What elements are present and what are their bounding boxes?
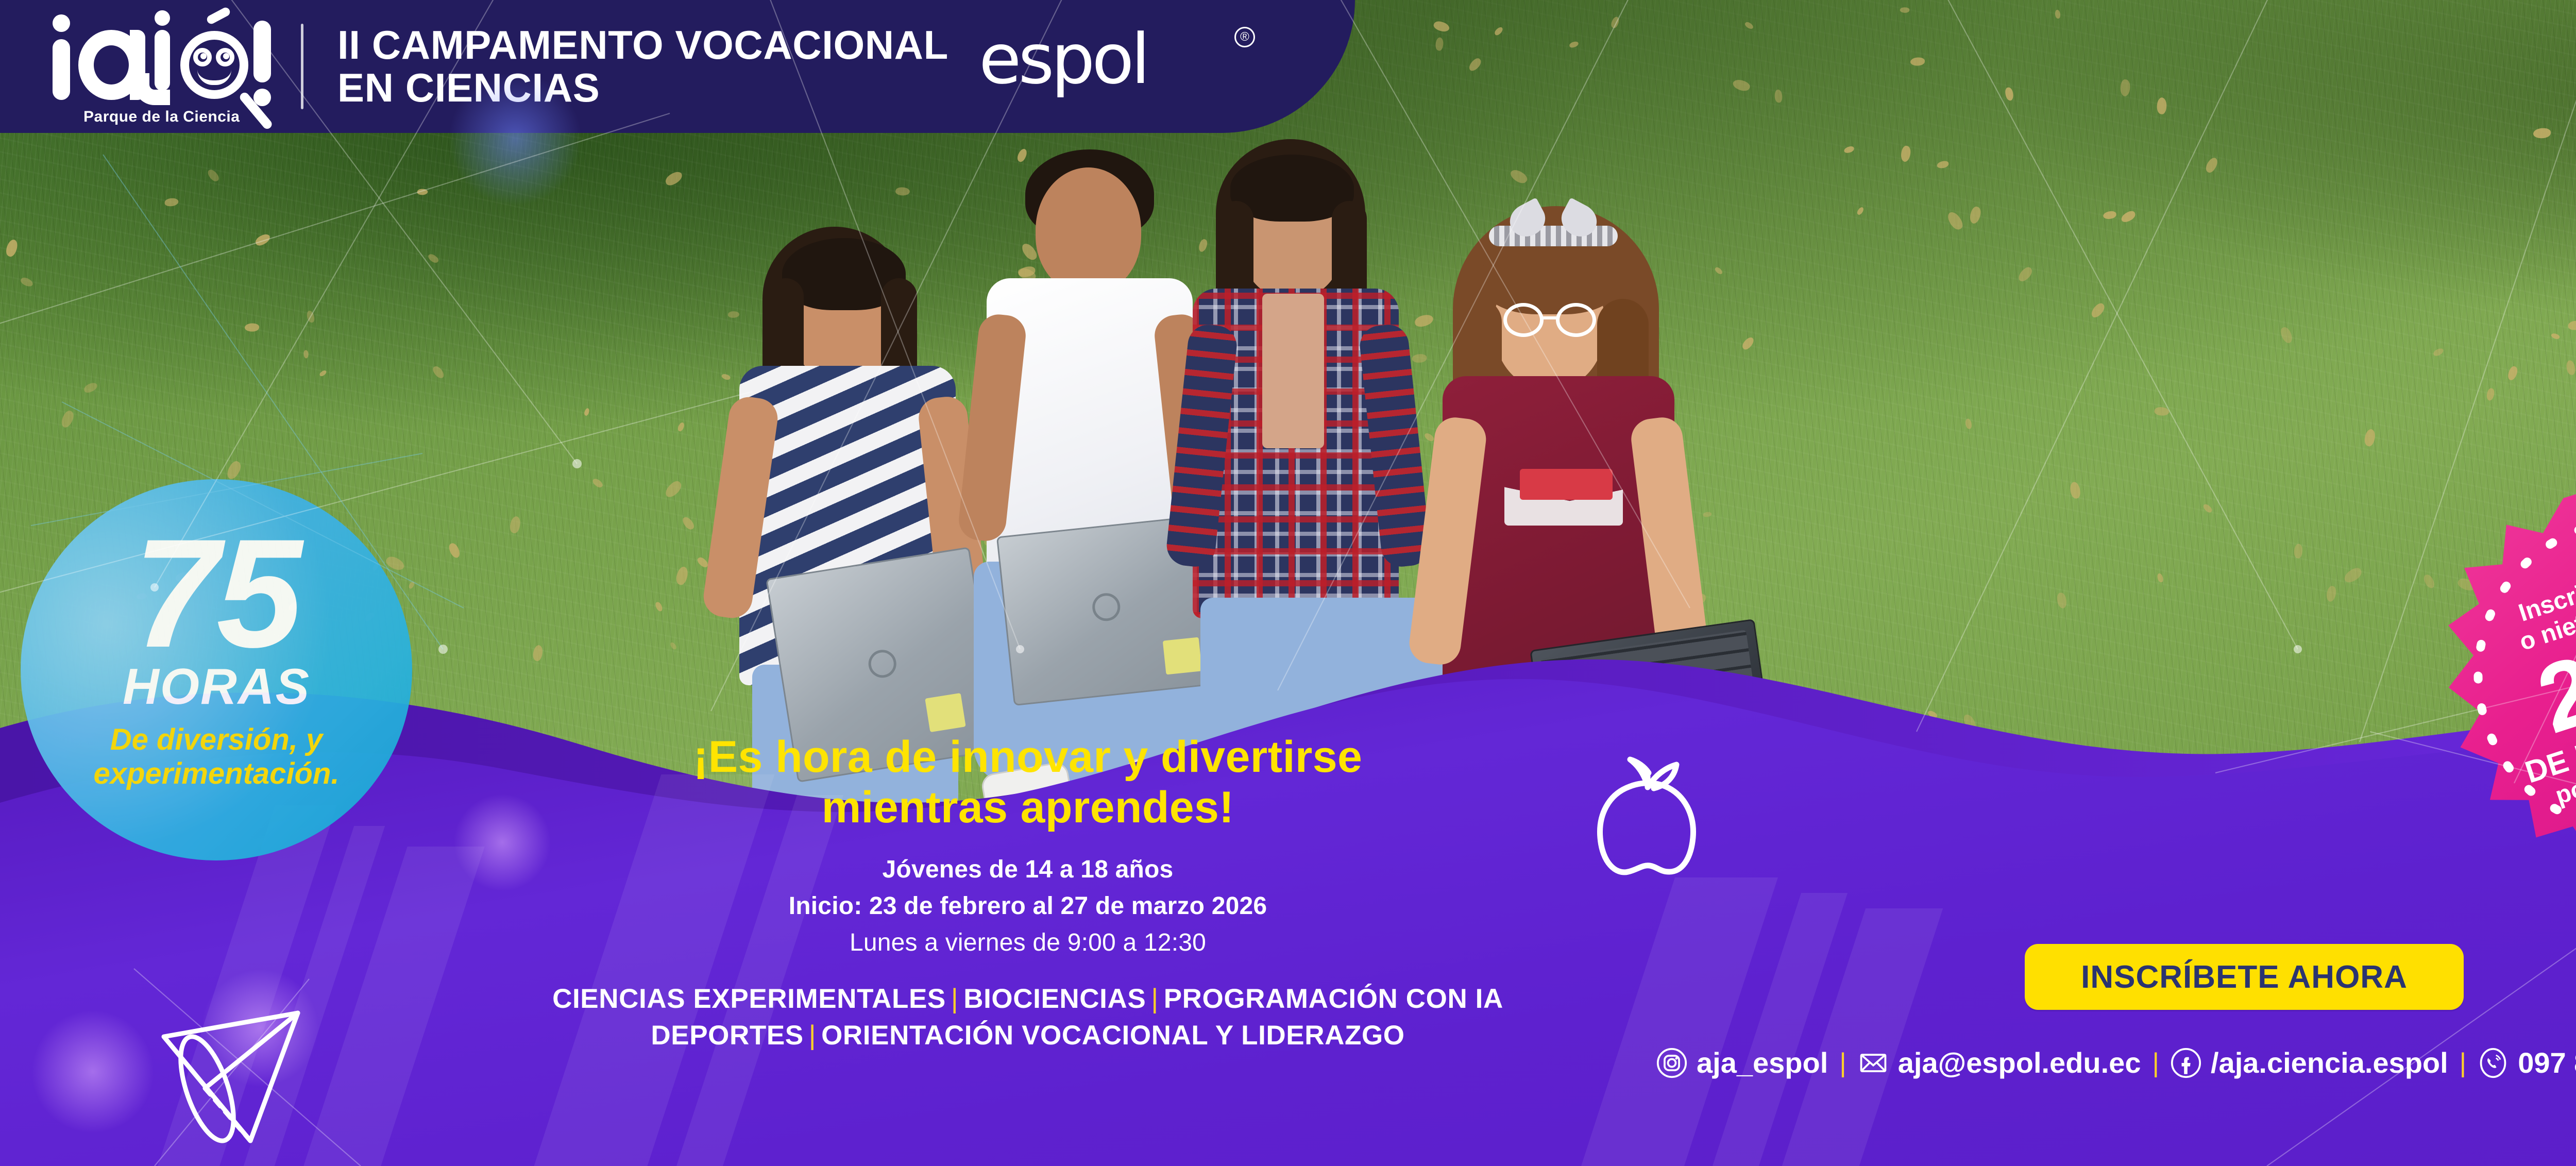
course-list: CIENCIAS EXPERIMENTALES|BIOCIENCIAS|PROG… [474, 981, 1582, 1054]
contact-value: aja_espol [1697, 1046, 1828, 1079]
contact-facebook[interactable]: /aja.ciencia.espol [2171, 1046, 2448, 1079]
logo-letter-j-dot [155, 10, 170, 26]
page-title: II CAMPAMENTO VOCACIONAL EN CIENCIAS [337, 24, 948, 110]
aja-logo[interactable]: Parque de la Ciencia [52, 7, 268, 126]
magnifier-icon [180, 31, 248, 99]
event-detail-line: Jóvenes de 14 a 18 años [474, 851, 1582, 888]
course-separator: | [804, 1020, 821, 1051]
hours-subtitle: De diversión, y experimentación. [93, 723, 339, 791]
logo-inverted-exclamation [53, 39, 70, 100]
event-detail-line: Lunes a viernes de 9:00 a 12:30 [474, 924, 1582, 961]
logo-inverted-exclamation-dot [53, 14, 70, 32]
logo-letter-j-hook [134, 73, 170, 105]
leaf [2055, 10, 2060, 19]
hours-number: 75 [133, 528, 299, 658]
headline: ¡Es hora de innovar y divertirse mientra… [474, 732, 1582, 833]
logo-accent-mark [206, 6, 231, 26]
contact-strip: aja_espol|aja@espol.edu.ec|/aja.ciencia.… [1656, 1046, 2576, 1079]
contact-phone[interactable]: 097 879 2874 [2478, 1046, 2576, 1079]
espol-logo[interactable]: espol ® [979, 25, 1267, 107]
contact-instagram[interactable]: aja_espol [1656, 1046, 1828, 1079]
hours-unit-label: HORAS [123, 661, 310, 712]
logo-exclamation-dot [253, 89, 271, 106]
smile-curve [197, 70, 231, 85]
main-copy-block: ¡Es hora de innovar y divertirse mientra… [474, 732, 1582, 1054]
course-name: PROGRAMACIÓN CON IA [1164, 984, 1503, 1014]
logo-exclamation [253, 21, 271, 82]
espol-wordmark: espol [979, 25, 1267, 94]
smiley-face-icon [189, 40, 240, 90]
course-name: DEPORTES [651, 1020, 803, 1051]
logo-tagline: Parque de la Ciencia [83, 108, 240, 126]
registered-mark-icon: ® [1234, 27, 1255, 47]
course-name: CIENCIAS EXPERIMENTALES [552, 984, 946, 1014]
course-separator: | [946, 984, 963, 1014]
pupil-left [200, 53, 207, 59]
course-separator: | [1146, 984, 1163, 1014]
leaf [1910, 57, 1924, 66]
course-row: DEPORTES|ORIENTACIÓN VOCACIONAL Y LIDERA… [474, 1017, 1582, 1054]
contact-email[interactable]: aja@espol.edu.ec [1858, 1046, 2141, 1079]
contact-separator: | [2141, 1047, 2171, 1078]
facebook-icon [2171, 1047, 2201, 1078]
email-icon [1858, 1047, 1889, 1078]
contact-value: aja@espol.edu.ec [1898, 1046, 2141, 1079]
contact-separator: | [1828, 1047, 1858, 1078]
header-bar: Parque de la Ciencia II CAMPAMENTO VOCAC… [0, 0, 1355, 133]
promo-banner: Parque de la Ciencia II CAMPAMENTO VOCAC… [0, 0, 2576, 1166]
course-row: CIENCIAS EXPERIMENTALES|BIOCIENCIAS|PROG… [474, 981, 1582, 1017]
event-details: Jóvenes de 14 a 18 añosInicio: 23 de feb… [474, 851, 1582, 961]
course-name: ORIENTACIÓN VOCACIONAL Y LIDERAZGO [821, 1020, 1405, 1051]
event-detail-line: Inicio: 23 de febrero al 27 de marzo 202… [474, 888, 1582, 924]
instagram-icon [1656, 1047, 1687, 1078]
contact-value: /aja.ciencia.espol [2211, 1046, 2448, 1079]
course-name: BIOCIENCIAS [963, 984, 1146, 1014]
enroll-now-button[interactable]: INSCRÍBETE AHORA [2025, 944, 2464, 1010]
hours-badge: 75 HORAS De diversión, y experimentación… [21, 479, 412, 860]
header-divider [301, 24, 303, 109]
phone-icon [2478, 1047, 2509, 1078]
pupil-right [223, 53, 229, 59]
contact-value: 097 879 2874 [2518, 1046, 2576, 1079]
contact-separator: | [2448, 1047, 2478, 1078]
